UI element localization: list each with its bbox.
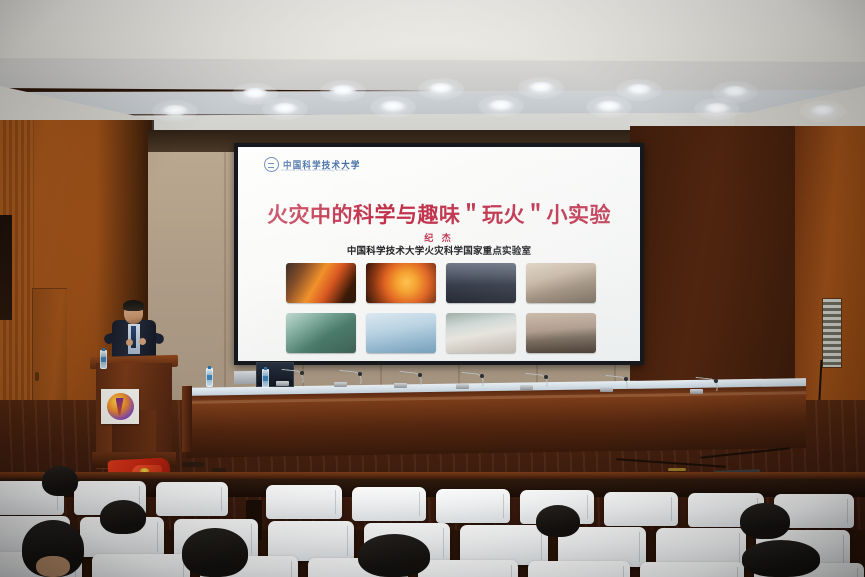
ceiling-downlight	[596, 101, 622, 112]
university-crest-icon	[107, 393, 134, 420]
projection-screen: 中国科学技术大学 University of Science and Techn…	[238, 147, 640, 361]
audience-seat[interactable]	[156, 482, 228, 516]
audience-seat[interactable]	[352, 487, 426, 521]
thumbnail-forest-fire-flames	[286, 263, 356, 303]
ceiling-downlight	[528, 82, 554, 93]
ceiling-downlight	[380, 101, 406, 112]
lecture-hall-photo: 中国科学技术大学 University of Science and Techn…	[0, 0, 865, 577]
audience-seat[interactable]	[418, 560, 518, 577]
audience-member-head	[100, 500, 146, 534]
ceiling-downlight	[330, 85, 356, 96]
table-microphone[interactable]	[276, 370, 304, 386]
thumbnail-hillside-fire-night	[446, 263, 516, 303]
ceiling-downlight	[722, 86, 748, 97]
left-wall-dark-panel	[0, 215, 12, 320]
ceiling-upper-surface	[0, 0, 865, 62]
presenter-right-hand	[139, 338, 146, 345]
wall-vent-grille	[822, 298, 842, 368]
university-seal-icon	[264, 157, 279, 172]
slide-title: 火灾中的科学与趣味＂玩火＂小实验	[238, 199, 640, 229]
audience-member-head	[536, 505, 580, 537]
stage-object	[182, 462, 204, 467]
audience-seat[interactable]	[92, 554, 190, 577]
audience-member-head	[42, 466, 78, 496]
ceiling-downlight	[272, 103, 298, 114]
slide-affiliation: 中国科学技术大学火灾科学国家重点实验室	[238, 243, 640, 257]
audience-seat[interactable]	[604, 492, 678, 526]
audience-member-head	[182, 528, 248, 577]
thumbnail-aerial-fire-green-terrain	[286, 313, 356, 353]
audience-seat[interactable]	[268, 521, 354, 561]
ceiling-downlight	[626, 84, 652, 95]
university-logo-subtext: University of Science and Technology of …	[281, 169, 348, 172]
table-microphone[interactable]	[690, 378, 718, 394]
audience-member-neck	[36, 556, 70, 577]
table-microphone[interactable]	[394, 372, 422, 388]
door-handle-icon[interactable]	[35, 372, 39, 381]
ceiling-downlight	[488, 100, 514, 111]
audience-member-head	[740, 503, 790, 539]
table-left-edge	[182, 386, 192, 452]
table-microphone[interactable]	[334, 371, 362, 387]
presenter-hair	[123, 300, 144, 311]
thumbnail-smoke-plume-ridge	[526, 263, 596, 303]
ceiling-downlight	[428, 83, 454, 94]
water-bottle[interactable]	[100, 350, 107, 369]
stage-front-edge	[0, 472, 865, 479]
audience-seat[interactable]	[436, 489, 510, 523]
floor-marker-tape	[668, 468, 686, 471]
slide-image-grid	[286, 263, 596, 353]
water-bottle[interactable]	[262, 369, 269, 388]
thumbnail-smoke-column-sky	[366, 313, 436, 353]
lectern-crest-plaque	[101, 389, 139, 424]
ceiling-downlight	[704, 103, 730, 114]
ceiling-downlight	[242, 88, 268, 99]
audience-seat[interactable]	[640, 562, 744, 577]
audience-seat[interactable]	[460, 525, 548, 565]
thumbnail-grassland-fire-smoke	[526, 313, 596, 353]
audience-member-head	[742, 540, 820, 577]
laptop-base[interactable]	[234, 371, 256, 384]
thumbnail-town-fire-line	[446, 313, 516, 353]
audience-seat[interactable]	[528, 561, 630, 577]
table-microphone[interactable]	[456, 373, 484, 389]
water-bottle[interactable]	[206, 368, 213, 387]
thumbnail-intense-wildfire-blaze	[366, 263, 436, 303]
ceiling-downlight	[162, 105, 188, 116]
table-microphone[interactable]	[520, 374, 548, 390]
audience-seat[interactable]	[266, 485, 342, 519]
audience-member-head	[358, 534, 430, 577]
table-microphone[interactable]	[600, 376, 628, 392]
ceiling-downlight	[810, 105, 836, 116]
presenter-left-hand	[126, 339, 133, 346]
